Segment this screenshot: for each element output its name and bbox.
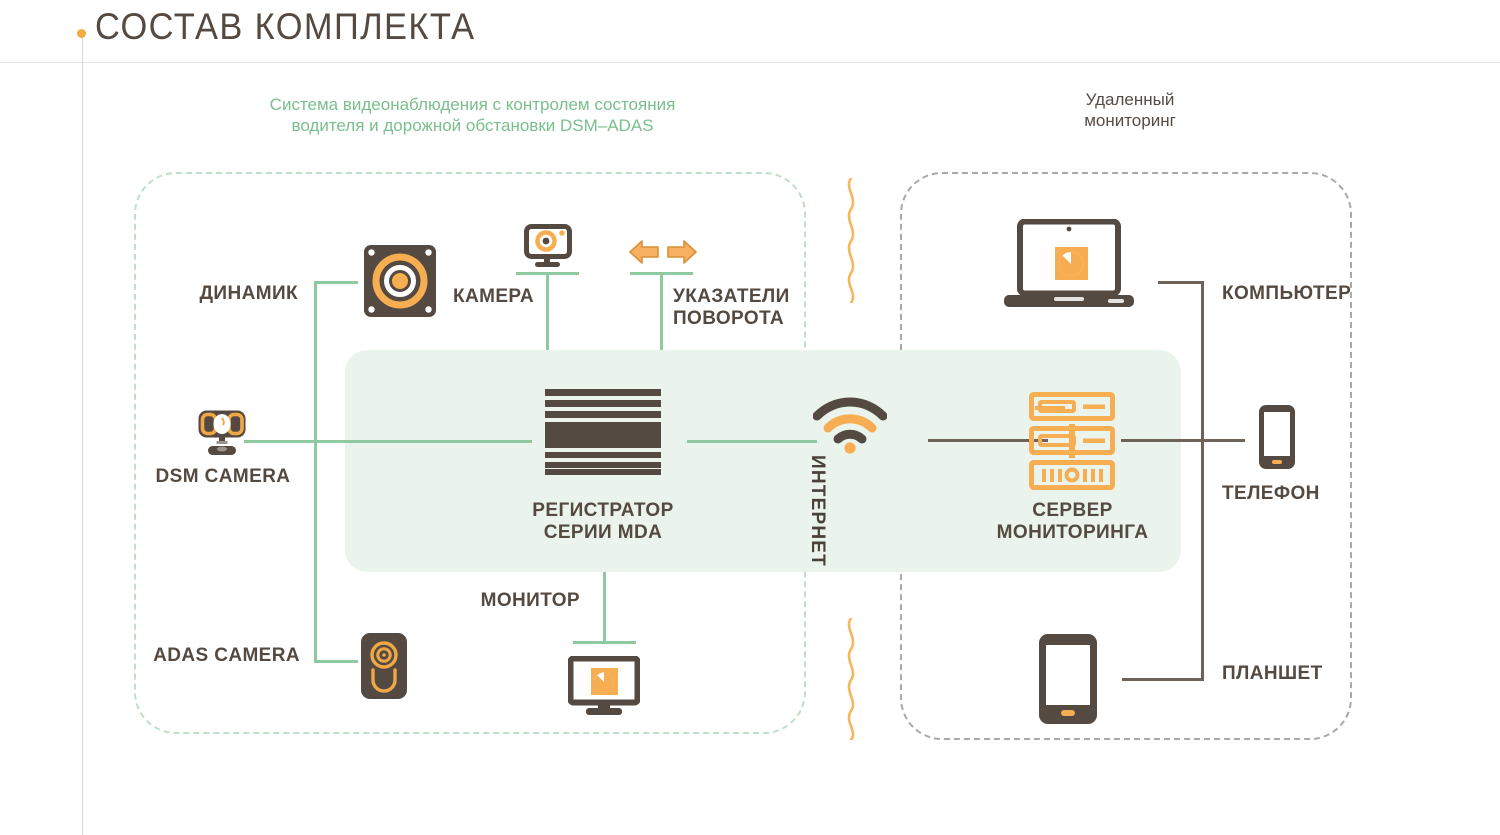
turn-signals-label: УКАЗАТЕЛИ ПОВОРОТА xyxy=(673,286,833,330)
adas-camera-label: ADAS CAMERA xyxy=(115,645,300,667)
connector-monitor-crossbar xyxy=(573,641,636,644)
connector-turn-signal-drop xyxy=(660,272,663,350)
phone-label: ТЕЛЕФОН xyxy=(1222,483,1402,505)
monitor-icon xyxy=(568,656,640,716)
wifi-icon xyxy=(813,396,887,454)
server-label: СЕРВЕР МОНИТОРИНГА xyxy=(975,500,1170,544)
wavy-line-bottom-icon xyxy=(840,618,862,740)
connector-turn-signal-crossbar xyxy=(630,272,693,275)
camera-icon xyxy=(524,224,572,270)
server-icon xyxy=(1029,392,1115,490)
left-spine-line xyxy=(82,33,83,835)
recorder-label: РЕГИСТРАТОР СЕРИИ MDA xyxy=(508,500,698,544)
page-title: СОСТАВ КОМПЛЕКТА xyxy=(95,6,475,48)
connector-speaker-stub xyxy=(314,281,358,284)
connector-left-bus xyxy=(314,281,317,663)
right-panel-caption: Удаленный мониторинг xyxy=(1000,89,1260,132)
connector-camera-drop xyxy=(546,272,549,350)
diagram-canvas: СОСТАВ КОМПЛЕКТА Система видеонаблюдения… xyxy=(0,0,1500,835)
connector-computer-stub xyxy=(1158,281,1204,284)
turn-signal-arrows-icon xyxy=(628,238,698,266)
camera-label: КАМЕРА xyxy=(453,286,583,308)
connector-tablet-stub xyxy=(1122,678,1204,681)
connector-right-bus xyxy=(1201,281,1204,681)
connector-dsm-to-recorder xyxy=(244,440,532,443)
laptop-icon xyxy=(1002,219,1136,311)
dsm-camera-icon xyxy=(196,408,248,458)
tablet-label: ПЛАНШЕТ xyxy=(1222,663,1402,685)
adas-camera-icon xyxy=(360,632,408,700)
wavy-line-top-icon xyxy=(840,178,862,303)
connector-camera-crossbar xyxy=(516,272,579,275)
speaker-label: ДИНАМИК xyxy=(120,283,298,305)
connector-recorder-to-internet xyxy=(687,440,817,443)
left-panel-caption: Система видеонаблюдения с контролем сост… xyxy=(215,94,730,137)
smartphone-icon xyxy=(1258,404,1296,470)
connector-adas-stub xyxy=(314,660,358,663)
speaker-icon xyxy=(363,244,437,318)
computer-label: КОМПЬЮТЕР xyxy=(1222,283,1422,305)
connector-server-to-phone xyxy=(1121,439,1245,442)
tablet-icon xyxy=(1038,633,1098,725)
recorder-icon xyxy=(545,389,661,475)
monitor-label: МОНИТОР xyxy=(400,590,580,612)
dsm-camera-label: DSM CAMERA xyxy=(143,466,303,488)
internet-label: ИНТЕРНЕТ xyxy=(806,455,828,635)
bullet-dot-icon xyxy=(77,29,86,38)
connector-monitor-riser xyxy=(603,572,606,644)
header-divider xyxy=(0,62,1500,63)
